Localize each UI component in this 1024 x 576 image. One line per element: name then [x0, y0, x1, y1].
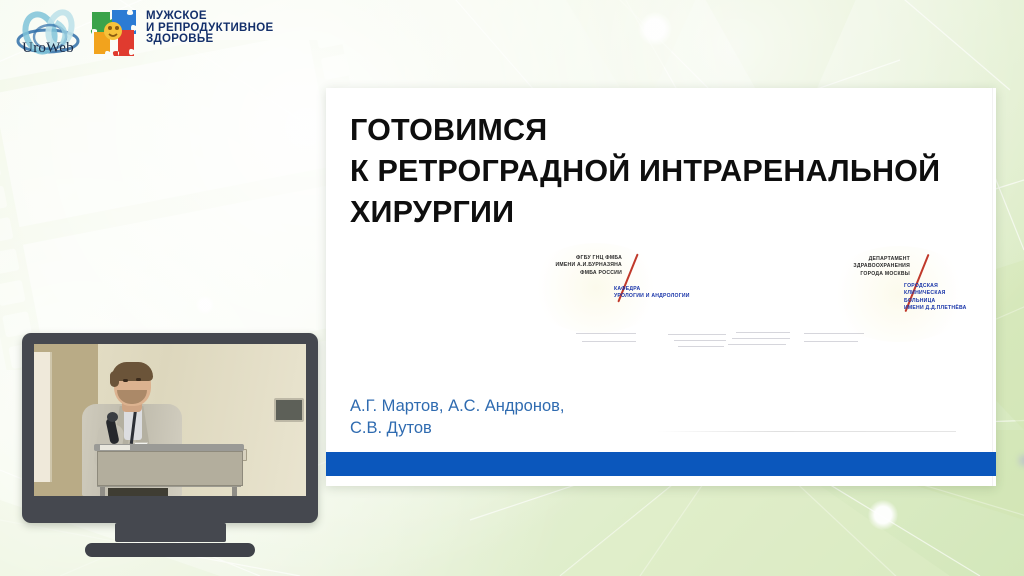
presentation-slide[interactable]: ГОТОВИМСЯ К РЕТРОГРАДНОЙ ИНТРАРЕНАЛЬНОЙ …: [326, 88, 996, 486]
org-left-dept-line-1: ФГБУ ГНЦ ФМБА: [522, 255, 622, 262]
org-right-dept-line-1: ДЕПАРТАМЕНТ: [818, 256, 910, 263]
emblem-wing-line: [582, 341, 636, 342]
slide-title-line-1: ГОТОВИМСЯ: [350, 110, 966, 151]
emblem-wing-line: [736, 332, 790, 333]
microphone-head-icon: [107, 412, 118, 422]
puzzle-family-logo-icon: [88, 6, 142, 58]
emblem-wing-line: [804, 341, 858, 342]
brand-line-3: ЗДОРОВЬЕ: [146, 34, 274, 46]
org-right-dept-line-2: ЗДРАВООХРАНЕНИЯ: [818, 263, 910, 270]
uroweb-wordmark: UroWeb: [10, 40, 86, 57]
video-door: [34, 352, 52, 482]
header-branding: UroWeb МУЖСКОЕ И РЕПРОДУКТИВНОЕ ЗДОРОВЬЕ: [0, 0, 1024, 72]
org-right-unit-line-1: ГОРОДСКАЯ: [904, 283, 1000, 290]
org-right-unit-line-2: КЛИНИЧЕСКАЯ: [904, 290, 1000, 297]
video-podium: [94, 444, 244, 496]
monitor-stand-base: [85, 543, 255, 557]
slide-title: ГОТОВИМСЯ К РЕТРОГРАДНОЙ ИНТРАРЕНАЛЬНОЙ …: [350, 110, 966, 233]
emblem-caption-blur: [1019, 455, 1024, 466]
slide-title-line-2: К РЕТРОГРАДНОЙ ИНТРАРЕНАЛЬНОЙ: [350, 151, 966, 192]
podium-label: [100, 445, 130, 450]
org-left-unit-line-2: УРОЛОГИИ И АНДРОЛОГИИ: [614, 293, 734, 300]
emblem-wing-line: [674, 340, 726, 341]
authors-line-1: А.Г. Мартов, А.С. Андронов,: [350, 395, 565, 417]
org-left-department: ФГБУ ГНЦ ФМБА ИМЕНИ А.И.БУРНАЗЯНА ФМБА Р…: [522, 255, 622, 277]
org-left-unit-line-1: КАФЕДРА: [614, 286, 734, 293]
org-right-unit-line-4: ИМЕНИ Д.Д.ПЛЕТНЁВА: [904, 305, 1000, 312]
emblem-wing-line: [728, 344, 786, 345]
screen-stage: UroWeb МУЖСКОЕ И РЕПРОДУКТИВНОЕ ЗДОРОВЬЕ…: [0, 0, 1024, 576]
org-right-unit: ГОРОДСКАЯ КЛИНИЧЕСКАЯ БОЛЬНИЦА ИМЕНИ Д.Д…: [904, 283, 1000, 312]
slide-divider: [656, 431, 956, 432]
org-right-unit-line-3: БОЛЬНИЦА: [904, 298, 1000, 305]
podium-shadow: [108, 488, 168, 496]
org-left-unit: КАФЕДРА УРОЛОГИИ И АНДРОЛОГИИ: [614, 286, 734, 301]
video-screen[interactable]: [34, 344, 306, 496]
podium-front-panel: [97, 451, 243, 486]
emblem-wing-line: [804, 333, 864, 334]
emblem-wing-line: [668, 334, 726, 335]
slide-accent-bar: [326, 452, 996, 476]
speaker-hair-side: [110, 371, 119, 387]
speaker-eye-right: [136, 378, 141, 381]
authors-line-2: С.В. Дутов: [350, 417, 565, 439]
slide-authors: А.Г. Мартов, А.С. Андронов, С.В. Дутов: [350, 395, 565, 439]
org-right-department: ДЕПАРТАМЕНТ ЗДРАВООХРАНЕНИЯ ГОРОДА МОСКВ…: [818, 256, 910, 278]
org-left-dept-line-2: ИМЕНИ А.И.БУРНАЗЯНА: [522, 262, 622, 269]
monitor-stand-neck: [115, 523, 226, 542]
emblem-wing-line: [576, 333, 636, 334]
brand-line-1: МУЖСКОЕ: [146, 11, 274, 23]
brand-title: МУЖСКОЕ И РЕПРОДУКТИВНОЕ ЗДОРОВЬЕ: [146, 11, 274, 46]
speaker-eye-left: [123, 379, 128, 382]
org-right-dept-line-3: ГОРОДА МОСКВЫ: [818, 271, 910, 278]
video-monitor[interactable]: [22, 333, 318, 523]
emblem-wing-line: [678, 346, 724, 347]
emblem-wing-line: [732, 338, 790, 339]
slide-title-line-3: ХИРУРГИИ: [350, 192, 966, 233]
video-wall-panel: [274, 398, 304, 422]
org-left-dept-line-3: ФМБА РОССИИ: [522, 270, 622, 277]
